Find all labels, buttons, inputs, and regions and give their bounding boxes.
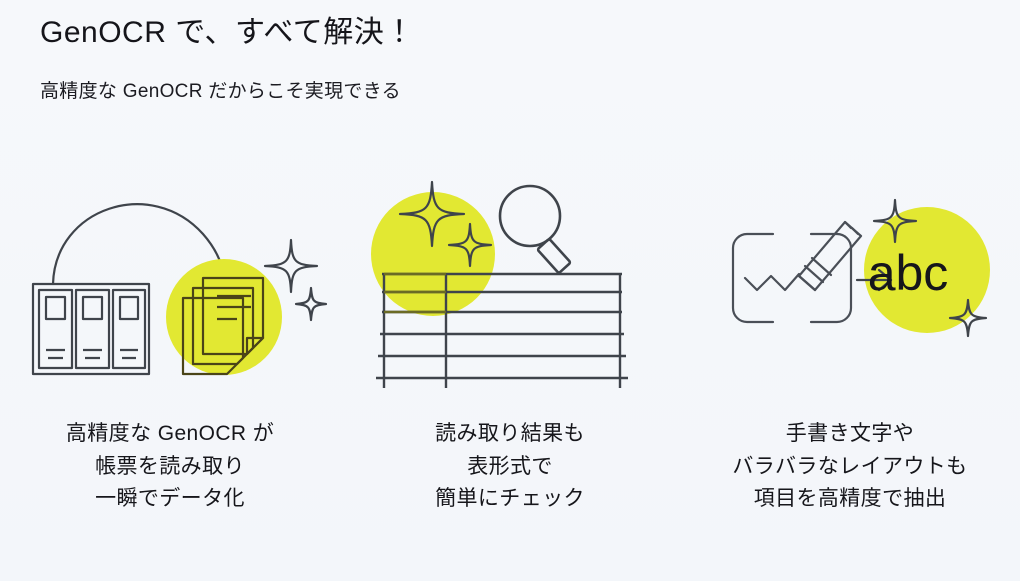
- feature-item-ocr-capture: 高精度な GenOCR が 帳票を読み取り 一瞬でデータ化: [0, 162, 340, 516]
- binder-icon: [33, 284, 149, 374]
- handwriting-squiggle-icon: [745, 274, 799, 290]
- feature-caption: 読み取り結果も 表形式で 簡単にチェック: [435, 418, 585, 516]
- magnifier-icon: [500, 186, 571, 273]
- slide-header: GenOCR で、すべて解決！ 高精度な GenOCR だからこそ実現できる: [40, 14, 940, 104]
- feature-item-table-check: 読み取り結果も 表形式で 簡単にチェック: [340, 162, 680, 516]
- feature-item-handwriting: abc 手書き文字や バラバラなレイアウトも 項目を高精度で抽出: [680, 162, 1020, 516]
- caption-line: 一瞬でデータ化: [66, 483, 274, 516]
- scan-frame-icon: [733, 234, 851, 322]
- caption-line: 手書き文字や: [732, 418, 967, 451]
- accent-circle: [371, 192, 495, 316]
- caption-line: 帳票を読み取り: [66, 451, 274, 484]
- illustration-binders-to-documents: [15, 162, 325, 394]
- caption-line: 表形式で: [435, 451, 585, 484]
- illustration-table-with-magnifier: [360, 162, 660, 394]
- feature-caption: 手書き文字や バラバラなレイアウトも 項目を高精度で抽出: [732, 418, 967, 516]
- caption-line: 読み取り結果も: [435, 418, 585, 451]
- feature-slide: GenOCR で、すべて解決！ 高精度な GenOCR だからこそ実現できる: [0, 0, 1020, 581]
- page-subtitle: 高精度な GenOCR だからこそ実現できる: [40, 52, 940, 105]
- page-title: GenOCR で、すべて解決！: [40, 14, 940, 52]
- caption-line: 高精度な GenOCR が: [66, 418, 274, 451]
- feature-list: 高精度な GenOCR が 帳票を読み取り 一瞬でデータ化: [0, 162, 1020, 516]
- illustration-handwriting-to-text: abc: [695, 162, 1005, 394]
- caption-line: 項目を高精度で抽出: [732, 483, 967, 516]
- caption-line: バラバラなレイアウトも: [732, 451, 967, 484]
- abc-label: abc: [868, 245, 949, 301]
- feature-caption: 高精度な GenOCR が 帳票を読み取り 一瞬でデータ化: [66, 418, 274, 516]
- caption-line: 簡単にチェック: [435, 483, 585, 516]
